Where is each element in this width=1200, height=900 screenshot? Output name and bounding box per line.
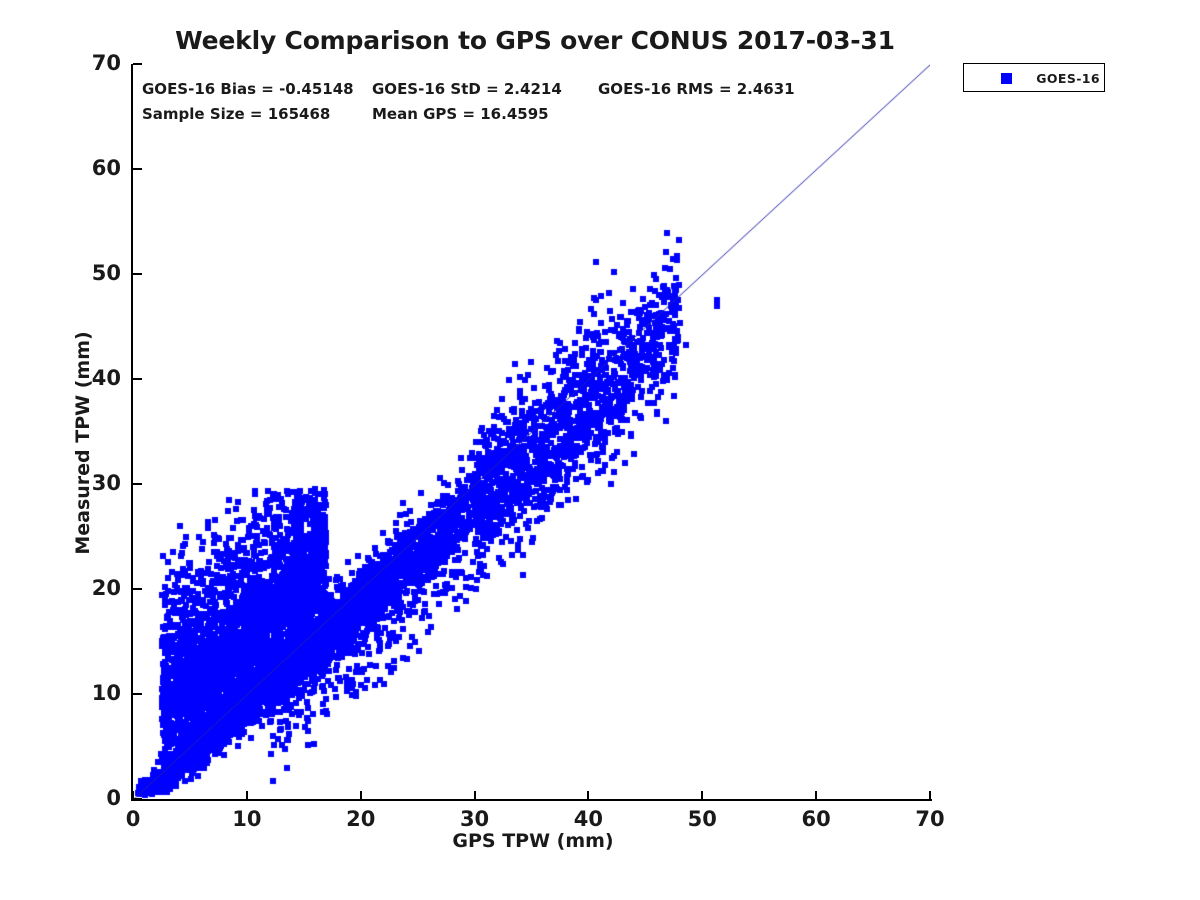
x-tick-60 xyxy=(815,791,817,800)
x-tick-label-70: 70 xyxy=(900,809,960,830)
x-tick-70 xyxy=(929,791,931,800)
y-tick-50 xyxy=(133,273,142,275)
y-tick-label-0: 0 xyxy=(61,788,121,809)
x-tick-label-40: 40 xyxy=(558,809,618,830)
y-tick-60 xyxy=(133,168,142,170)
x-tick-40 xyxy=(587,791,589,800)
legend[interactable]: GOES-16 xyxy=(963,63,1105,92)
x-tick-50 xyxy=(701,791,703,800)
x-tick-label-0: 0 xyxy=(103,809,163,830)
x-tick-10 xyxy=(246,791,248,800)
annotation-mean-gps: Mean GPS = 16.4595 xyxy=(372,105,549,123)
page-title: Weekly Comparison to GPS over CONUS 2017… xyxy=(0,26,1070,55)
x-tick-30 xyxy=(474,791,476,800)
x-tick-20 xyxy=(360,791,362,800)
x-axis-spine xyxy=(131,799,932,801)
x-tick-0 xyxy=(132,791,134,800)
scatter-plot-canvas xyxy=(133,64,930,799)
legend-label-goes-16: GOES-16 xyxy=(964,71,1100,86)
x-tick-label-60: 60 xyxy=(786,809,846,830)
y-tick-40 xyxy=(133,378,142,380)
y-tick-30 xyxy=(133,483,142,485)
plot-area xyxy=(133,64,930,799)
annotation-rms: GOES-16 RMS = 2.4631 xyxy=(598,80,795,98)
x-tick-label-20: 20 xyxy=(331,809,391,830)
y-tick-label-10: 10 xyxy=(61,683,121,704)
figure-canvas: Weekly Comparison to GPS over CONUS 2017… xyxy=(0,0,1200,900)
x-tick-label-30: 30 xyxy=(445,809,505,830)
x-tick-label-10: 10 xyxy=(217,809,277,830)
y-tick-10 xyxy=(133,693,142,695)
y-tick-0 xyxy=(133,798,142,800)
y-axis-label: Measured TPW (mm) xyxy=(72,243,94,643)
x-tick-label-50: 50 xyxy=(672,809,732,830)
annotation-sample-size: Sample Size = 165468 xyxy=(142,105,330,123)
x-axis-label: GPS TPW (mm) xyxy=(333,830,733,852)
y-axis-spine xyxy=(131,64,133,801)
y-tick-label-70: 70 xyxy=(61,53,121,74)
y-tick-70 xyxy=(133,63,142,65)
y-tick-label-60: 60 xyxy=(61,158,121,179)
annotation-bias: GOES-16 Bias = -0.45148 xyxy=(142,80,354,98)
y-tick-20 xyxy=(133,588,142,590)
annotation-std: GOES-16 StD = 2.4214 xyxy=(372,80,562,98)
